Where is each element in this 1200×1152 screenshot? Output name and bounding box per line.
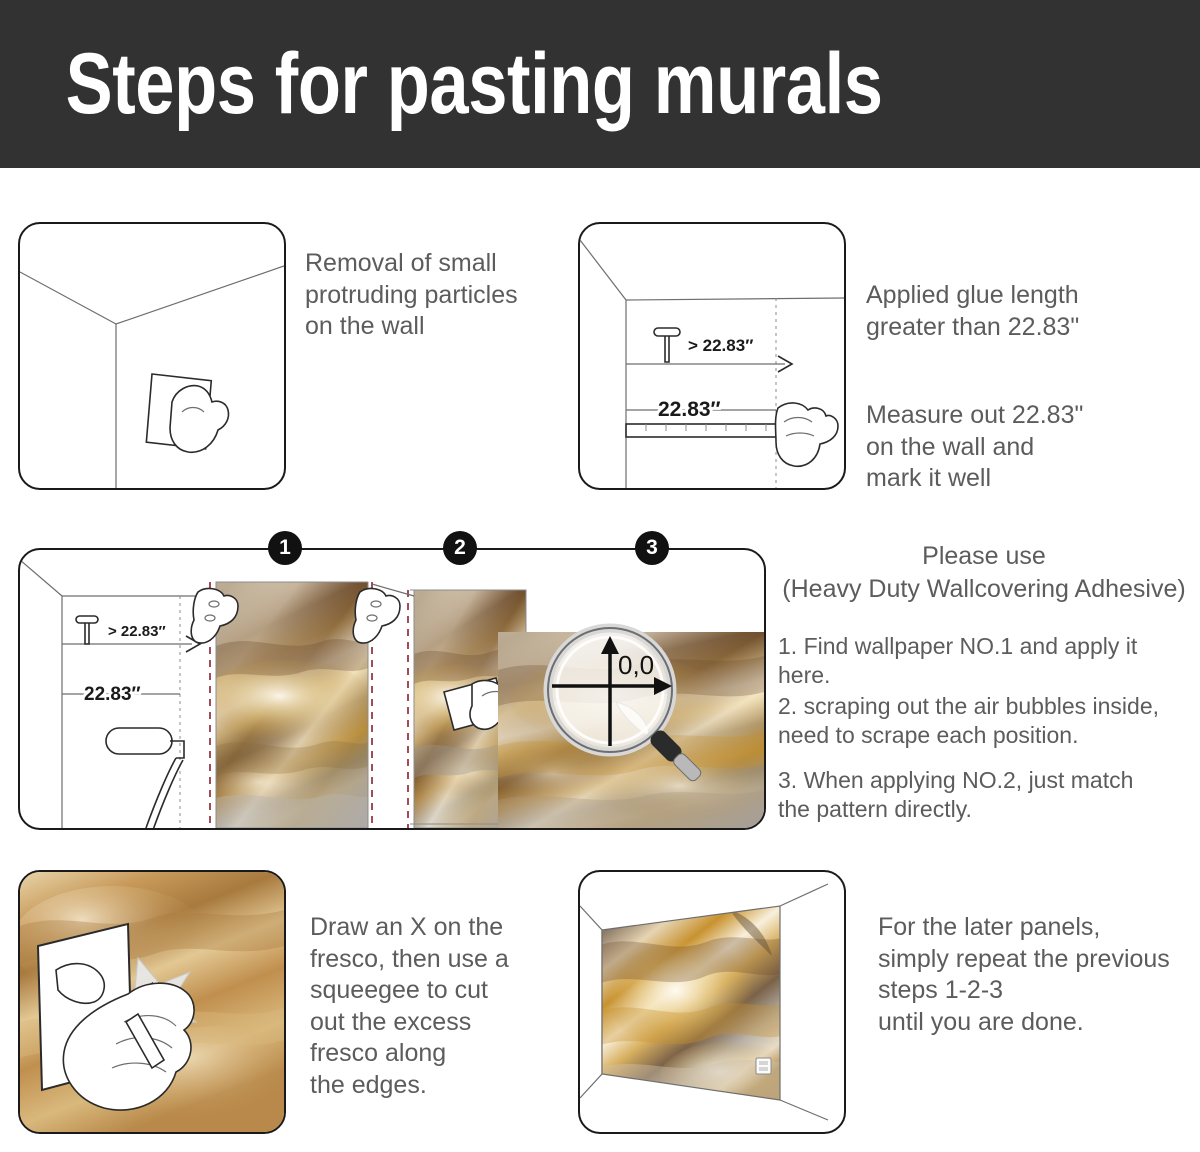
panel-trim-excess xyxy=(18,870,286,1134)
step-badge-1: 1 xyxy=(268,531,302,565)
origin-label: 0,0 xyxy=(618,650,654,680)
step-badge-2: 2 xyxy=(443,531,477,565)
light-switch-icon xyxy=(756,1058,771,1074)
page-title: Steps for pasting murals xyxy=(0,35,883,134)
caption-glue-length: Applied glue length greater than 22.83" xyxy=(866,280,1166,343)
instruction-1: 1. Find wallpaper NO.1 and apply it here… xyxy=(778,632,1190,689)
panel-apply-panels: > 22.83″ 22.83″ xyxy=(18,548,766,830)
instruction-2: 2. scraping out the air bubbles inside, … xyxy=(778,692,1190,749)
panel-repeat-panels xyxy=(578,870,846,1134)
dim-above-label: > 22.83″ xyxy=(688,336,753,355)
caption-wall-preparation: Removal of small protruding particles on… xyxy=(305,248,565,343)
panel-wall-preparation xyxy=(18,222,286,490)
apply-panels-illustration: > 22.83″ 22.83″ xyxy=(20,550,764,828)
finished-room-illustration xyxy=(580,872,844,1132)
dim-tape-label: 22.83″ xyxy=(658,398,721,421)
svg-text:> 22.83″: > 22.83″ xyxy=(108,623,166,640)
caption-measure-wall: Measure out 22.83" on the wall and mark … xyxy=(866,400,1166,495)
page-header: Steps for pasting murals xyxy=(0,0,1200,168)
step-badge-3: 3 xyxy=(635,531,669,565)
caption-repeat-panels: For the later panels, simply repeat the … xyxy=(878,912,1198,1038)
trim-excess-illustration xyxy=(20,872,284,1132)
caption-trim-excess: Draw an X on the fresco, then use a sque… xyxy=(310,912,560,1101)
wall-corner-illustration xyxy=(20,224,284,488)
instruction-3: 3. When applying NO.2, just match the pa… xyxy=(778,766,1190,823)
glue-measure-illustration: > 22.83″ 22.83″ xyxy=(580,224,844,488)
panel-glue-and-measure: > 22.83″ 22.83″ xyxy=(578,222,846,490)
adhesive-heading: Please use (Heavy Duty Wallcovering Adhe… xyxy=(778,540,1190,605)
svg-text:22.83″: 22.83″ xyxy=(84,684,141,705)
